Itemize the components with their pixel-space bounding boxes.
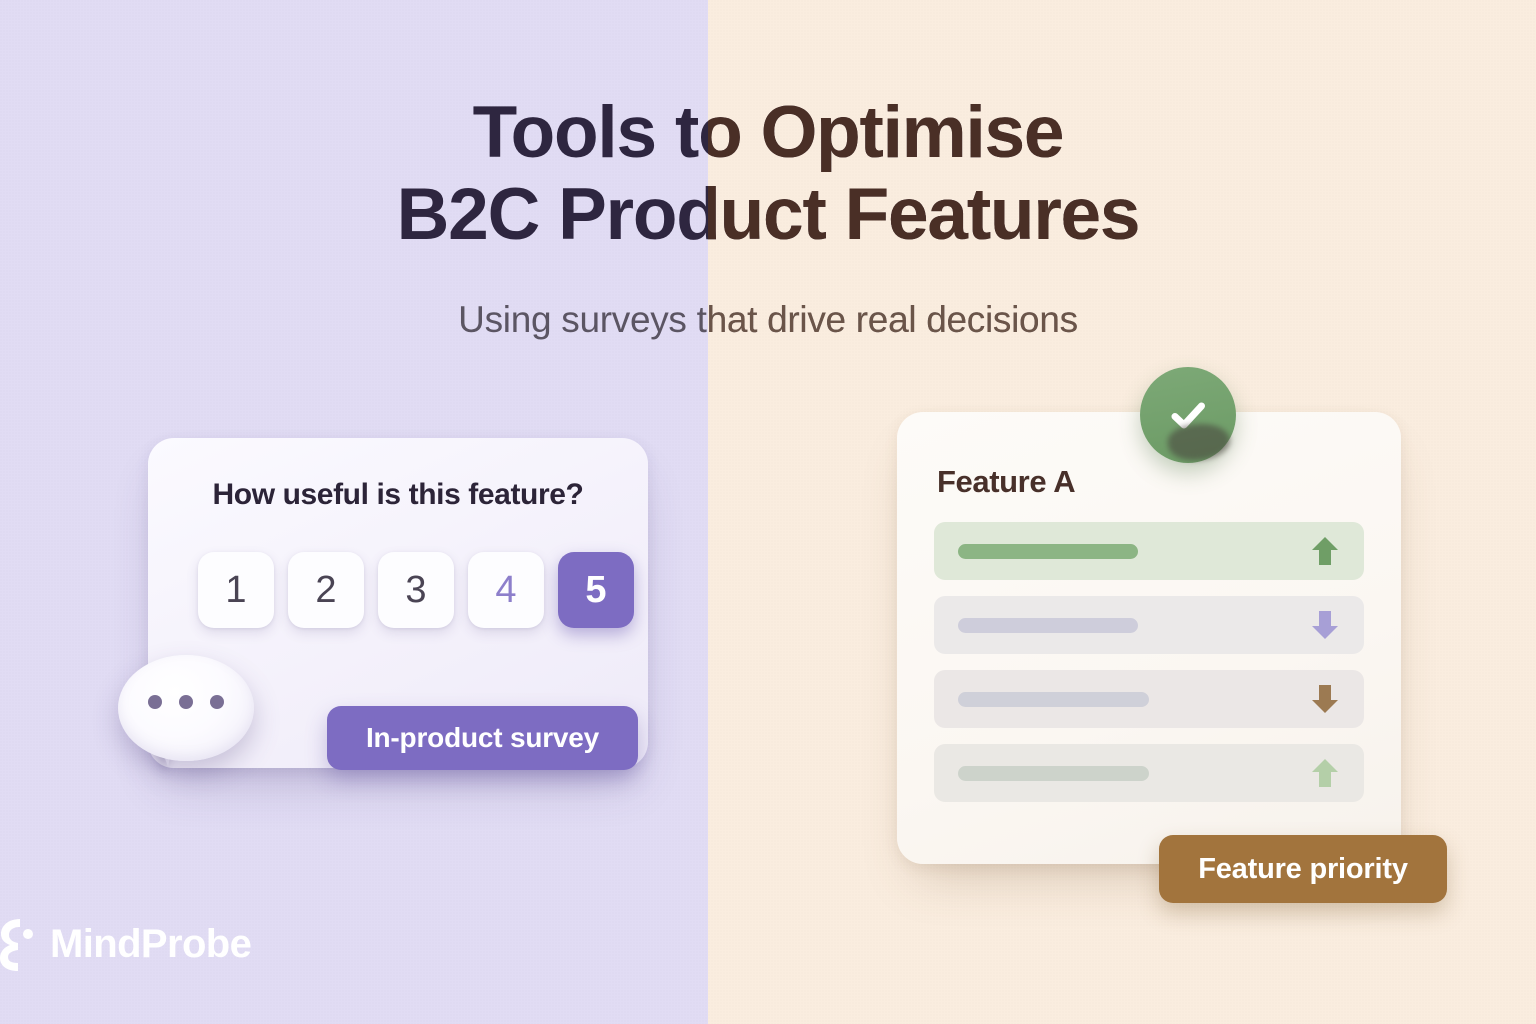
- brand-name: MindProbe: [50, 922, 251, 967]
- priority-row[interactable]: [934, 744, 1364, 802]
- rating-button-label: 1: [225, 569, 246, 612]
- feature-priority-pill-label: Feature priority: [1198, 853, 1408, 886]
- rating-button-label: 5: [585, 569, 606, 612]
- feature-priority-pill[interactable]: Feature priority: [1159, 835, 1447, 903]
- rating-button-3[interactable]: 3: [378, 552, 454, 628]
- headline-line-1-overlay: Tools to Optimise: [0, 92, 1536, 174]
- poster-canvas: Tools to Optimise Tools to Optimise B2C …: [0, 0, 1536, 1024]
- priority-row[interactable]: [934, 670, 1364, 728]
- feature-title: Feature A: [937, 464, 1075, 500]
- priority-row[interactable]: [934, 596, 1364, 654]
- rating-button-label: 3: [405, 569, 426, 612]
- rating-button-4[interactable]: 4: [468, 552, 544, 628]
- rating-button-2[interactable]: 2: [288, 552, 364, 628]
- arrow-up-icon: [1308, 534, 1342, 568]
- arrow-down-icon: [1308, 608, 1342, 642]
- priority-progress-bar: [958, 692, 1149, 707]
- subtitle: Using surveys that drive real decisions …: [0, 299, 1536, 341]
- rating-button-label: 4: [495, 569, 516, 612]
- chat-bubble: [118, 655, 254, 771]
- headline-line-2: B2C Product Features B2C Product Feature…: [0, 174, 1536, 256]
- priority-progress-bar: [958, 544, 1138, 559]
- priority-progress-bar: [958, 618, 1138, 633]
- headline-line-1: Tools to Optimise Tools to Optimise: [0, 92, 1536, 174]
- mindprobe-mark-icon: [0, 916, 38, 972]
- priority-row[interactable]: [934, 522, 1364, 580]
- feature-priority-card: Feature A: [897, 412, 1401, 864]
- rating-button-5[interactable]: 5: [558, 552, 634, 628]
- rating-button-label: 2: [315, 569, 336, 612]
- in-product-survey-pill-label: In-product survey: [366, 722, 599, 754]
- rating-button-1[interactable]: 1: [198, 552, 274, 628]
- headline: Tools to Optimise Tools to Optimise B2C …: [0, 92, 1536, 256]
- arrow-up-icon: [1308, 756, 1342, 790]
- priority-progress-bar: [958, 766, 1149, 781]
- headline-line-2-overlay: B2C Product Features: [0, 174, 1536, 256]
- brand-logo: MindProbe: [0, 916, 251, 972]
- arrow-down-icon: [1308, 682, 1342, 716]
- subtitle-overlay: Using surveys that drive real decisions: [0, 299, 1536, 341]
- rating-scale[interactable]: 12345: [198, 552, 634, 628]
- chat-bubble-ellipsis-icon: [118, 695, 254, 709]
- feature-priority-list: [934, 522, 1364, 802]
- in-product-survey-pill[interactable]: In-product survey: [327, 706, 638, 770]
- survey-question: How useful is this feature?: [148, 478, 648, 512]
